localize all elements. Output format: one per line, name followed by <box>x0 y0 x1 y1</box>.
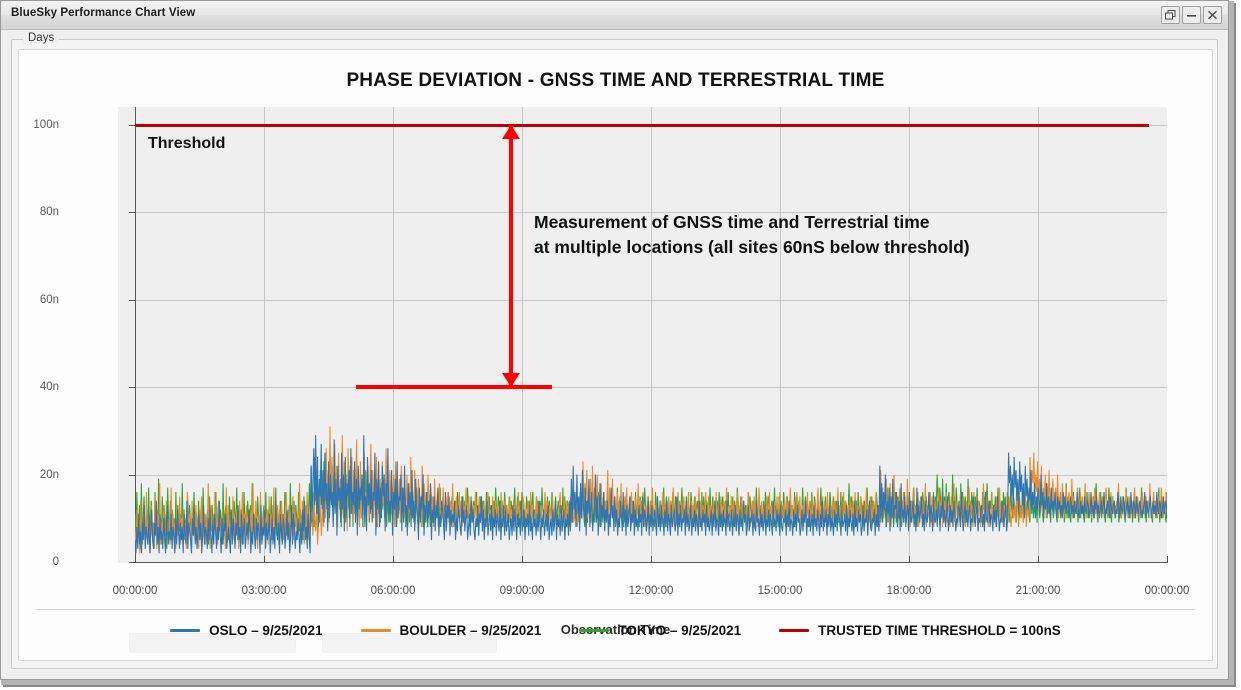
measurement-arrow-head-down <box>502 373 520 387</box>
x-tick-label: 00:00:00 <box>1145 585 1190 597</box>
application-window: BlueSky Performance Chart View <box>0 0 1229 680</box>
legend-item[interactable]: TOKYO – 9/25/2021 <box>579 623 741 638</box>
x-tick-label: 03:00:00 <box>242 585 287 597</box>
legend-label: TOKYO – 9/25/2021 <box>618 623 741 638</box>
chart-title: PHASE DEVIATION - GNSS TIME AND TERRESTR… <box>19 70 1212 92</box>
y-tick-label: 0 <box>0 556 59 568</box>
minimize-button[interactable] <box>1182 6 1201 24</box>
x-tick-label: 12:00:00 <box>629 585 674 597</box>
x-axis-line <box>135 562 1168 563</box>
x-tick-label: 21:00:00 <box>1016 585 1061 597</box>
threshold-annotation-label: Threshold <box>148 135 225 153</box>
x-tick-label: 00:00:00 <box>113 585 158 597</box>
chart-legend: OSLO – 9/25/2021BOULDER – 9/25/2021TOKYO… <box>36 609 1195 650</box>
measurement-annotation-line1: Measurement of GNSS time and Terrestrial… <box>534 210 970 235</box>
legend-item[interactable]: TRUSTED TIME THRESHOLD = 100nS <box>779 623 1061 638</box>
x-tick-label: 06:00:00 <box>371 585 416 597</box>
y-tick-label: 80n <box>0 206 59 218</box>
legend-item[interactable]: OSLO – 9/25/2021 <box>170 623 322 638</box>
title-bar: BlueSky Performance Chart View <box>1 1 1228 30</box>
x-tick-label: 18:00:00 <box>887 585 932 597</box>
app-root: BlueSky Performance Chart View <box>0 0 1241 690</box>
legend-label: TRUSTED TIME THRESHOLD = 100nS <box>818 623 1061 638</box>
y-tick-label: 20n <box>0 469 59 481</box>
restore-icon <box>1165 10 1176 20</box>
measurement-arrow-head-up <box>502 125 520 139</box>
x-tick-label: 15:00:00 <box>758 585 803 597</box>
x-tick-label: 09:00:00 <box>500 585 545 597</box>
close-button[interactable] <box>1203 6 1222 24</box>
legend-swatch <box>579 629 609 632</box>
chart-card: PHASE DEVIATION - GNSS TIME AND TERRESTR… <box>18 49 1213 661</box>
legend-swatch <box>170 629 200 632</box>
legend-swatch <box>779 629 809 632</box>
measurement-arrow-shaft <box>509 125 513 388</box>
measurement-annotation-text: Measurement of GNSS time and Terrestrial… <box>534 210 970 261</box>
timeseries-plot <box>135 107 1167 562</box>
y-tick-label: 60n <box>0 294 59 306</box>
close-icon <box>1207 10 1218 20</box>
y-tick-label: 40n <box>0 381 59 393</box>
legend-item[interactable]: BOULDER – 9/25/2021 <box>361 623 542 638</box>
legend-label: OSLO – 9/25/2021 <box>209 623 322 638</box>
threshold-line <box>135 124 1149 127</box>
window-title: BlueSky Performance Chart View <box>11 7 195 19</box>
y-tick-label: 100n <box>0 119 59 131</box>
measurement-annotation-line2: at multiple locations (all sites 60nS be… <box>534 235 970 260</box>
measurement-baseline-bar <box>356 385 552 389</box>
series-layer <box>135 107 1167 562</box>
legend-label: BOULDER – 9/25/2021 <box>400 623 542 638</box>
minimize-icon <box>1186 10 1197 20</box>
restore-button[interactable] <box>1161 6 1180 24</box>
window-controls <box>1161 6 1222 24</box>
legend-swatch <box>361 629 391 632</box>
days-groupbox-label: Days <box>23 32 59 44</box>
